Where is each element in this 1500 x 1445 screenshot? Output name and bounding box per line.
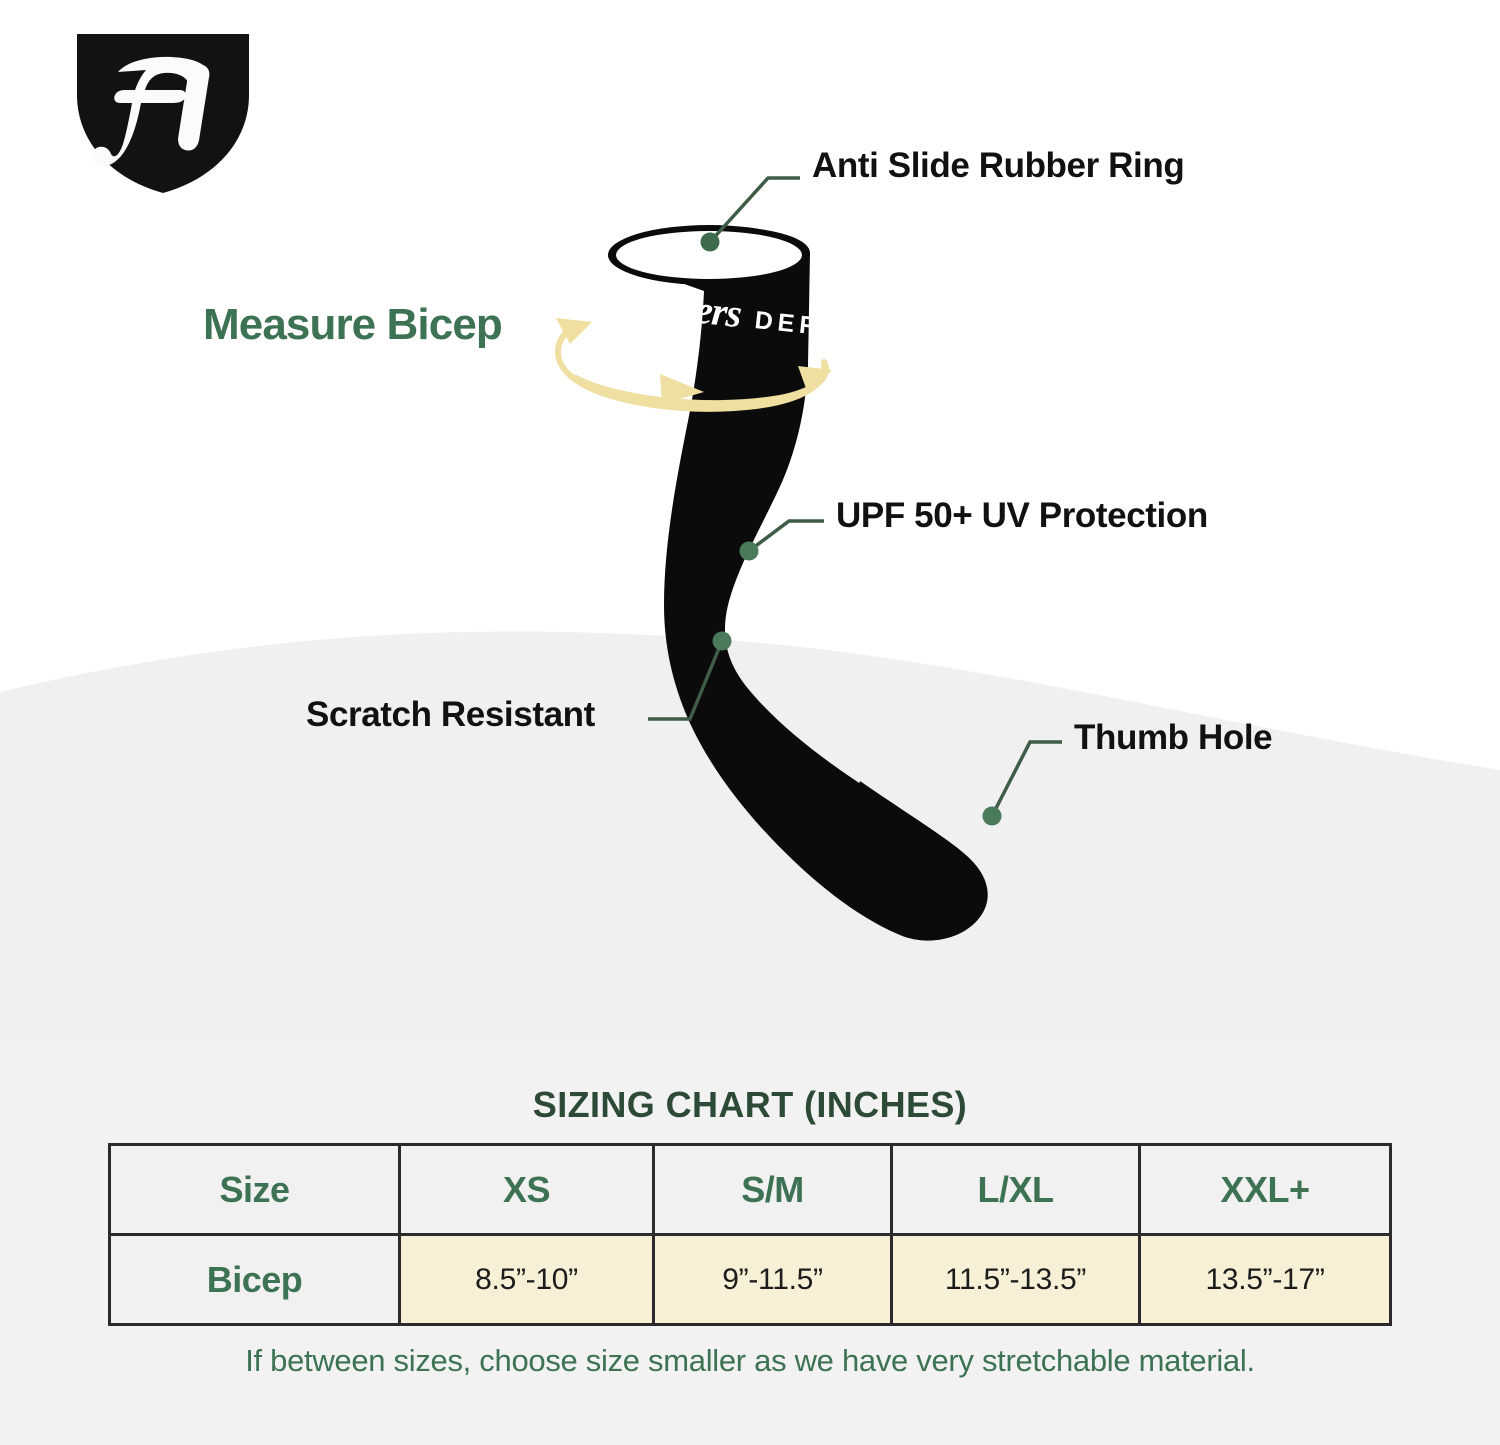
table-header-cell-xxl: XXL+: [1140, 1145, 1391, 1235]
measure-bicep-label: Measure Bicep: [203, 303, 502, 347]
table-cell-bicep-xxl: 13.5”-17”: [1140, 1235, 1391, 1325]
circular-measure-arrow-icon: [540, 300, 850, 450]
table-header-row: Size XS S/M L/XL XXL+: [110, 1145, 1391, 1235]
table-cell-bicep-lxl: 11.5”-13.5”: [892, 1235, 1140, 1325]
table-header-cell-sm: S/M: [654, 1145, 892, 1235]
callout-label-upf-50-uv-protection: UPF 50+ UV Protection: [836, 498, 1208, 533]
table-row: Bicep 8.5”-10” 9”-11.5” 11.5”-13.5” 13.5…: [110, 1235, 1391, 1325]
callout-label-thumb-hole: Thumb Hole: [1074, 720, 1272, 755]
callout-label-scratch-resistant: Scratch Resistant: [306, 697, 595, 732]
table-header-cell-size: Size: [110, 1145, 400, 1235]
callout-label-anti-slide-rubber-ring: Anti Slide Rubber Ring: [812, 148, 1184, 183]
table-cell-bicep-xs: 8.5”-10”: [400, 1235, 654, 1325]
sizing-infographic-page: Farmers DEFENSE: [0, 0, 1500, 1445]
table-header-cell-lxl: L/XL: [892, 1145, 1140, 1235]
sizing-chart-title: SIZING CHART (INCHES): [0, 1084, 1500, 1126]
shield-logo-icon: [58, 18, 268, 208]
sizing-chart-table: Size XS S/M L/XL XXL+ Bicep 8.5”-10” 9”-…: [108, 1143, 1392, 1326]
table-cell-bicep-sm: 9”-11.5”: [654, 1235, 892, 1325]
sizing-note-text: If between sizes, choose size smaller as…: [0, 1343, 1500, 1379]
table-header-cell-xs: XS: [400, 1145, 654, 1235]
table-row-label-bicep: Bicep: [110, 1235, 400, 1325]
